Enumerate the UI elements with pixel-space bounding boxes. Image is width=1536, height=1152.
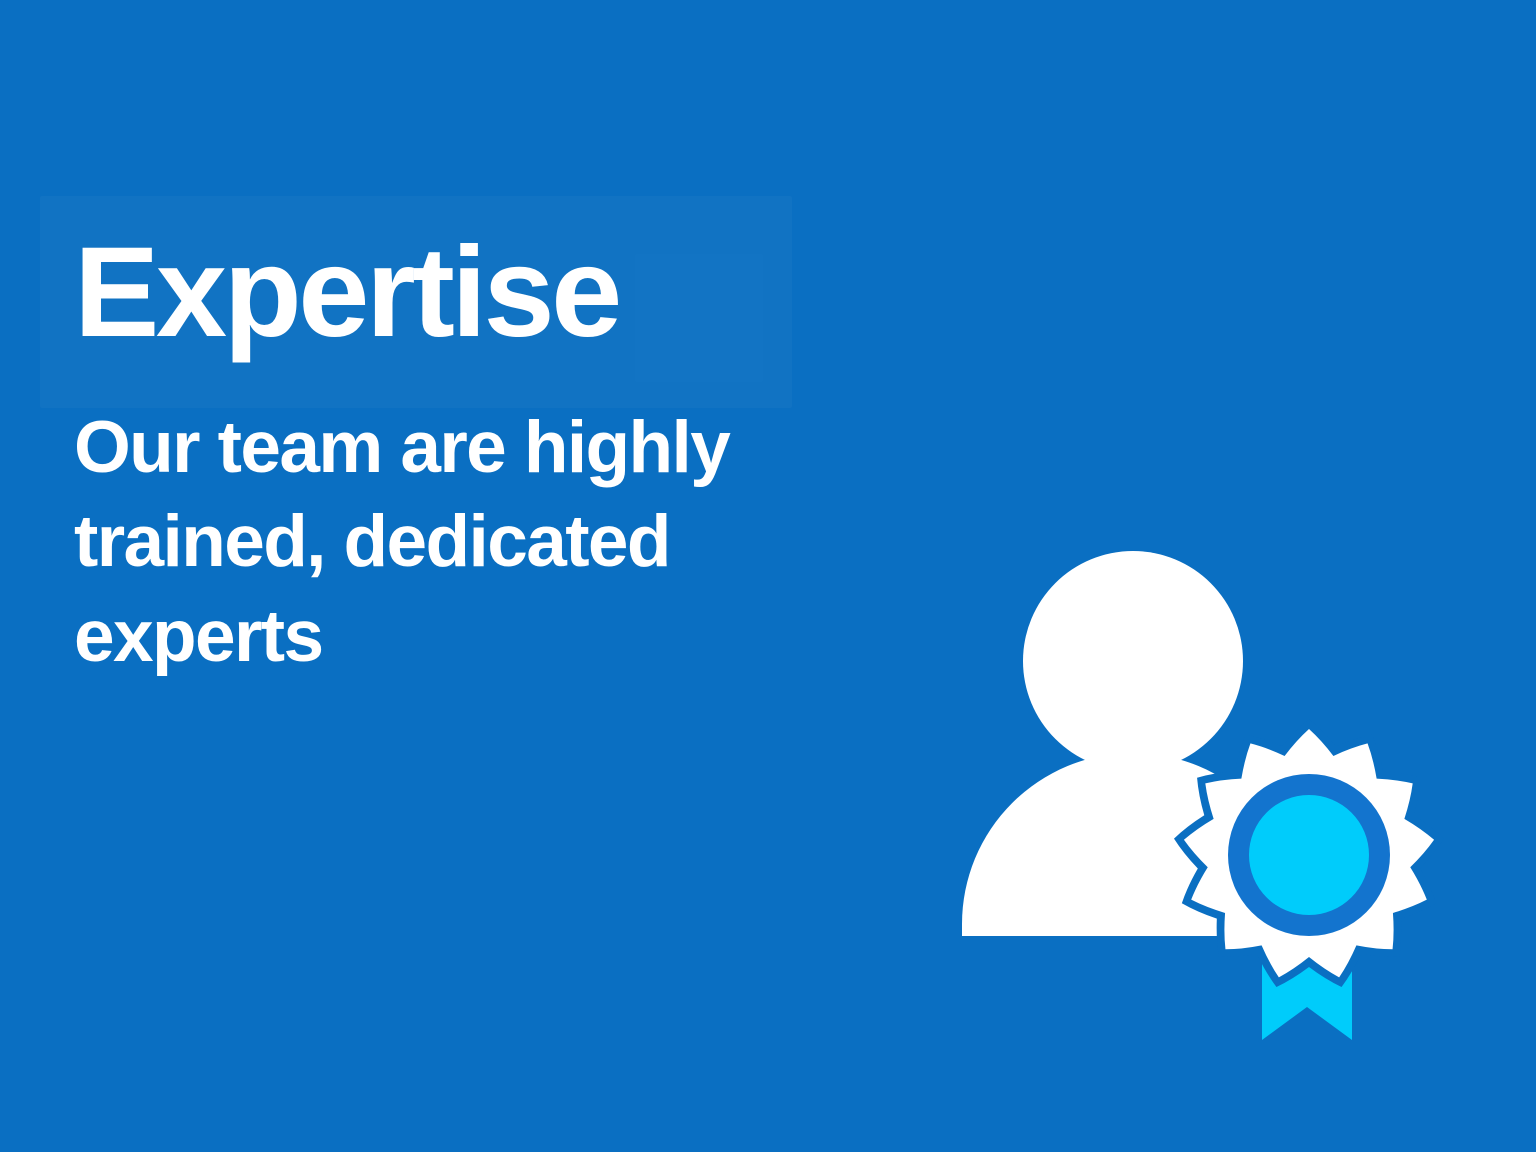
certified-person-icon-svg [930,520,1470,1060]
slide-canvas: Expertise Our team are highly trained, d… [0,0,1536,1152]
page-subtitle: Our team are highly trained, dedicated e… [74,359,904,686]
text-block: Expertise Our team are highly trained, d… [74,228,954,685]
page-title: Expertise [74,228,954,359]
award-rosette-icon [1174,719,1444,987]
certified-person-icon [930,520,1470,1060]
